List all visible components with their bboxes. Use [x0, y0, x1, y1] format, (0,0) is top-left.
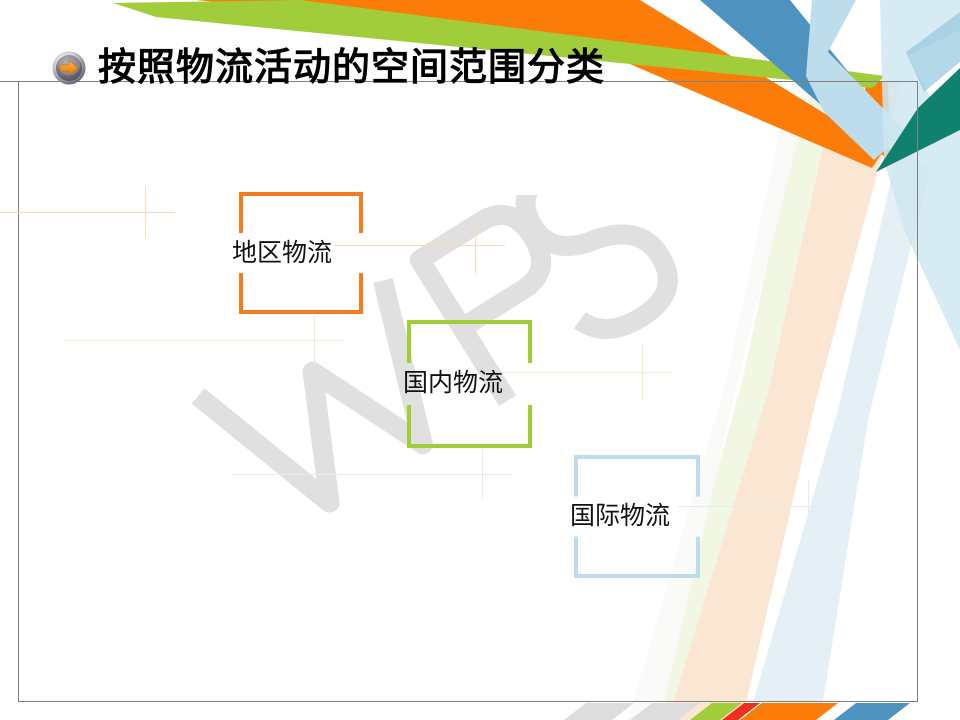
flow-box-label-1: 地区物流 [232, 240, 332, 265]
strip-green [690, 703, 742, 720]
strip-red [722, 703, 760, 720]
slide-canvas: 按照物流活动的空间范围分类 地区物流国内物流国际物流 [0, 0, 960, 720]
slide-title-row: 按照物流活动的空间范围分类 [52, 48, 605, 86]
strip-gray [564, 703, 634, 720]
frame-corner-notch [0, 81, 20, 82]
strip-blue [834, 703, 910, 720]
flow-box-label-2: 国内物流 [403, 370, 503, 395]
flow-box-label-3: 国际物流 [570, 503, 670, 528]
strip-gray-2 [630, 703, 700, 720]
arrow-right-circle-icon[interactable] [52, 51, 86, 85]
blue-band-right [906, 12, 960, 92]
page-title: 按照物流活动的空间范围分类 [98, 48, 605, 86]
strip-orange [740, 703, 838, 720]
